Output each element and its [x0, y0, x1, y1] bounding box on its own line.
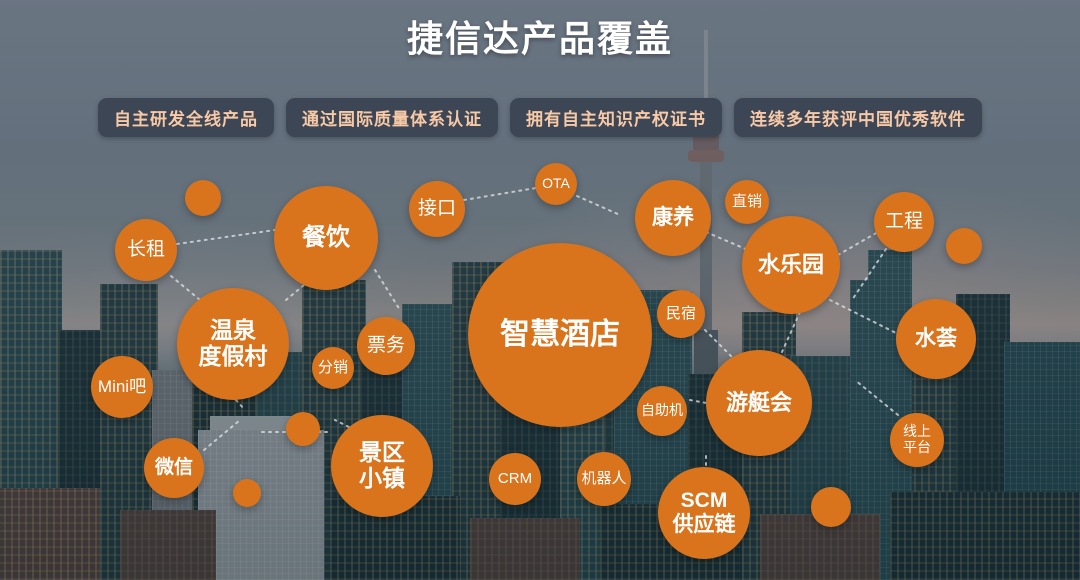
bubble-decorative-dot [233, 479, 261, 507]
bubble-OTA[interactable]: OTA [535, 163, 577, 205]
bubble-线上-平台[interactable]: 线上 平台 [890, 413, 944, 467]
bubble-工程[interactable]: 工程 [874, 192, 934, 252]
connector-line [204, 420, 240, 450]
bubble-餐饮[interactable]: 餐饮 [274, 186, 378, 290]
connector-line [706, 232, 748, 250]
bubble-Mini吧[interactable]: Mini吧 [91, 356, 153, 418]
bubble-民宿[interactable]: 民宿 [657, 290, 705, 338]
bubble-游艇会[interactable]: 游艇会 [706, 350, 812, 456]
bubble-水乐园[interactable]: 水乐园 [742, 216, 840, 314]
bubble-微信[interactable]: 微信 [144, 438, 204, 498]
bubble-智慧酒店[interactable]: 智慧酒店 [468, 243, 652, 427]
connector-line [852, 249, 886, 300]
bubble-票务[interactable]: 票务 [357, 317, 415, 375]
bubble-接口[interactable]: 接口 [409, 181, 465, 237]
connector-line [838, 232, 878, 255]
bubble-景区-小镇[interactable]: 景区 小镇 [331, 415, 433, 517]
connector-line [171, 276, 200, 300]
bubble-分销[interactable]: 分销 [312, 347, 354, 389]
bubble-直销[interactable]: 直销 [725, 180, 769, 224]
connector-line [830, 300, 900, 335]
bubble-decorative-dot [286, 412, 320, 446]
bubble-自助机[interactable]: 自助机 [637, 386, 687, 436]
bubble-decorative-dot [185, 180, 221, 216]
bubble-decorative-dot [946, 228, 982, 264]
connector-line [375, 270, 400, 310]
bubble-机器人[interactable]: 机器人 [577, 452, 631, 506]
connector-line [464, 188, 536, 200]
bubble-温泉-度假村[interactable]: 温泉 度假村 [177, 288, 289, 400]
bubble-水荟[interactable]: 水荟 [896, 299, 976, 379]
connector-line [577, 196, 620, 215]
connector-line [782, 312, 800, 352]
bubble-CRM[interactable]: CRM [489, 453, 541, 505]
bubble-长租[interactable]: 长租 [115, 219, 177, 281]
bubble-SCM-供应链[interactable]: SCM 供应链 [658, 467, 750, 559]
bubble-康养[interactable]: 康养 [635, 180, 711, 256]
infographic-canvas: 捷信达产品覆盖 自主研发全线产品 通过国际质量体系认证 拥有自主知识产权证书 连… [0, 0, 1080, 580]
connector-line [705, 330, 735, 360]
bubble-decorative-dot [811, 487, 851, 527]
connector-line [177, 230, 275, 244]
connector-line [236, 400, 245, 410]
connector-line [855, 380, 898, 415]
